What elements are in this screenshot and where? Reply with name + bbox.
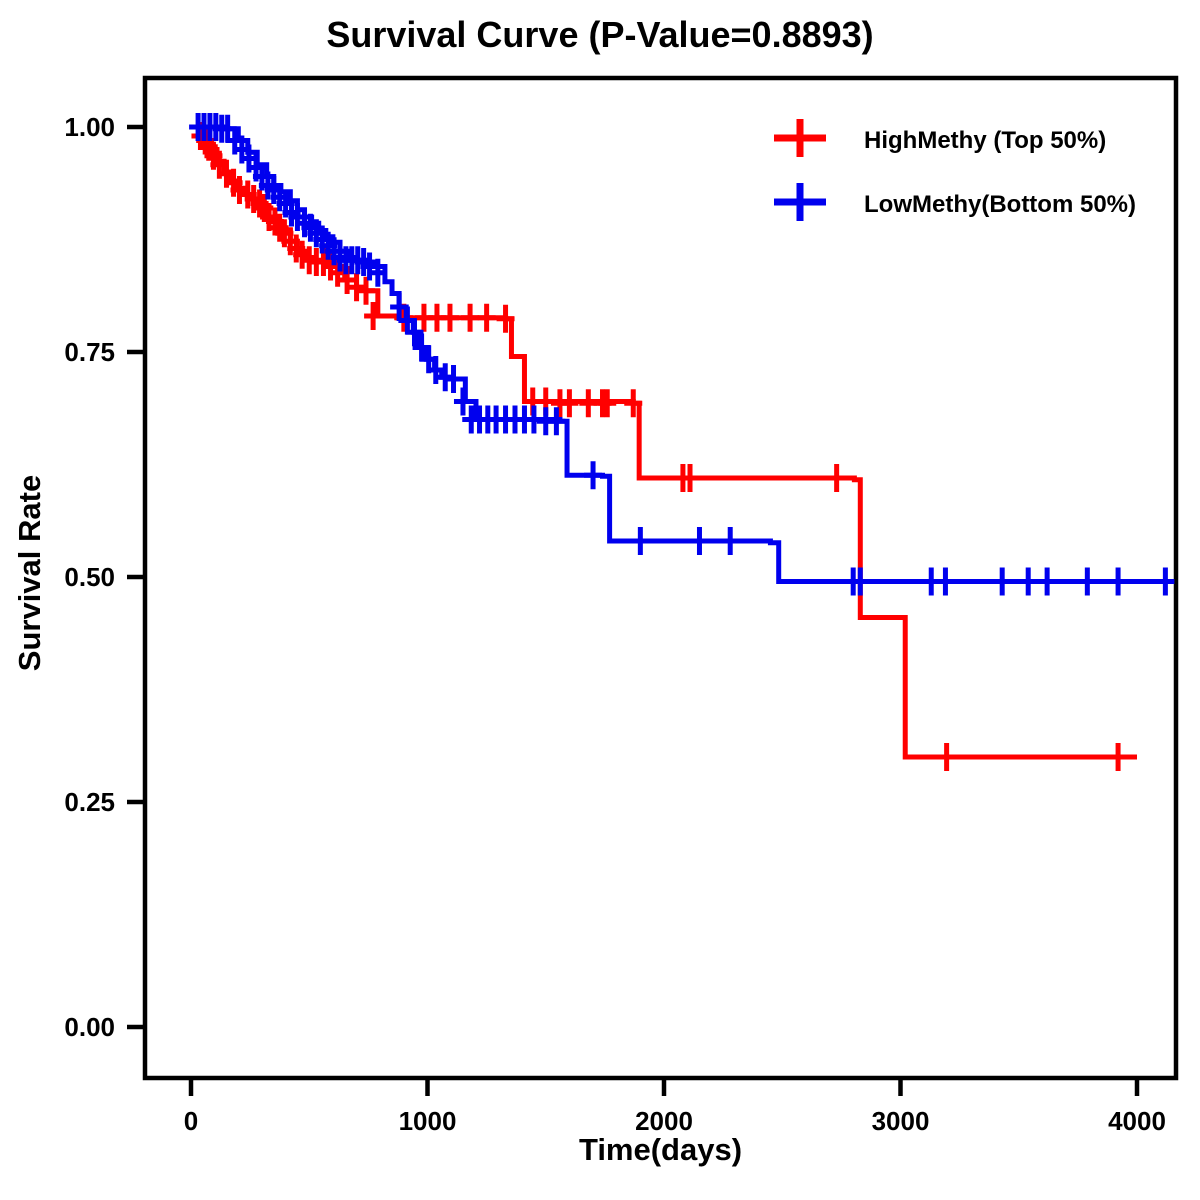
censor-tick: [1109, 743, 1127, 771]
censor-tick: [461, 304, 479, 332]
censor-marks: [191, 122, 1127, 771]
legend-item-low-methy[interactable]: LowMethy(Bottom 50%): [774, 183, 1136, 221]
x-tick-label: 3000: [872, 1106, 930, 1136]
censor-tick: [690, 527, 708, 555]
censor-tick: [828, 464, 846, 492]
censor-tick: [584, 461, 602, 489]
legend-censor-key-icon: [774, 183, 826, 221]
censor-tick: [1038, 568, 1056, 596]
censor-marks: [189, 113, 1174, 596]
legend-layer: HighMethy (Top 50%)LowMethy(Bottom 50%): [774, 119, 1136, 221]
y-tick-label: 0.50: [64, 562, 115, 592]
legend-item-high-methy[interactable]: HighMethy (Top 50%): [774, 119, 1106, 157]
censor-tick: [478, 304, 496, 332]
censor-tick: [938, 743, 956, 771]
x-tick-label: 2000: [635, 1106, 693, 1136]
axis-layer: 0.000.250.500.751.0001000200030004000: [64, 78, 1176, 1136]
y-tick-label: 1.00: [64, 112, 115, 142]
x-tick-label: 1000: [399, 1106, 457, 1136]
censor-tick: [441, 304, 459, 332]
censor-tick: [547, 407, 565, 435]
y-tick-label: 0.25: [64, 787, 115, 817]
y-tick-label: 0.75: [64, 337, 115, 367]
x-tick-label: 4000: [1108, 1106, 1166, 1136]
censor-tick: [993, 568, 1011, 596]
survival-step-line: [191, 127, 1137, 757]
x-tick-label: 0: [184, 1106, 198, 1136]
censor-tick: [721, 527, 739, 555]
legend-label: LowMethy(Bottom 50%): [864, 191, 1136, 218]
legend-censor-key-icon: [774, 119, 826, 157]
censor-tick: [631, 527, 649, 555]
survival-chart-figure: Survival Curve (P-Value=0.8893) Survival…: [0, 0, 1200, 1200]
censor-tick: [936, 568, 954, 596]
censor-tick: [357, 277, 375, 305]
censor-tick: [348, 273, 366, 301]
censor-tick: [1078, 568, 1096, 596]
series-low-methy: [189, 113, 1174, 596]
y-tick-label: 0.00: [64, 1012, 115, 1042]
censor-tick: [1156, 568, 1174, 596]
censor-tick: [1109, 568, 1127, 596]
legend-label: HighMethy (Top 50%): [864, 127, 1106, 154]
plot-area: 0.000.250.500.751.0001000200030004000 Hi…: [0, 0, 1200, 1200]
censor-tick: [1019, 568, 1037, 596]
censor-tick: [560, 389, 578, 417]
series-high-methy: [191, 122, 1137, 771]
